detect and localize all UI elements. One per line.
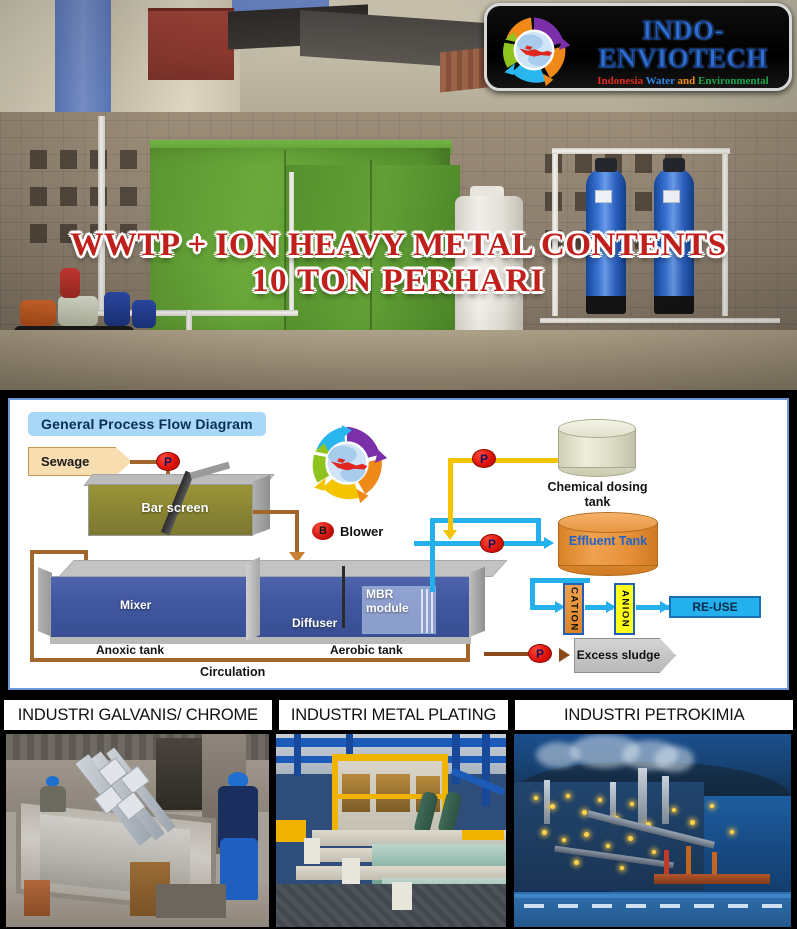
pump-badge-inlet[interactable]: P [156,452,180,471]
industry-label-petrokimia: INDUSTRI PETROKIMIA [515,700,793,730]
circulation-pipe-bottom [30,658,470,662]
mixer-label: Mixer [120,598,151,612]
bioreactor-top [58,560,507,577]
mbr-module-label: MBR module [366,588,436,616]
arrow-to-effluent [544,537,554,549]
diagram-header: General Process Flow Diagram [28,412,266,436]
poster-root: WWTP + ION HEAVY METAL CONTENTS 10 TON P… [0,0,797,929]
arrow-to-sludge [559,648,570,662]
title-line-1: WWTP + ION HEAVY METAL CONTENTS [0,228,797,264]
cation-label: CATION [569,587,579,632]
company-logo-badge[interactable]: INDO-ENVIOTECH Indonesia Water and Envir… [484,3,792,91]
diffuser-stem [342,566,345,628]
water-cycle-icon [497,13,571,87]
anion-label: ANION [620,590,630,628]
permeate-pipe-top [430,518,540,523]
industry-label-galvanis: INDUSTRI GALVANIS/ CHROME [4,700,272,730]
anoxic-tank-label: Anoxic tank [96,643,164,657]
metal-plating-line-photo [276,734,506,927]
cation-exchange-column: CATION [563,583,584,635]
pump-badge-chemical[interactable]: P [472,449,496,468]
process-flow-panel: General Process Flow Diagram Sewage P Ba… [0,390,797,698]
hero-photo: WWTP + ION HEAVY METAL CONTENTS 10 TON P… [0,0,797,390]
galvanizing-plant-photo [6,734,269,927]
sewage-label: Sewage [29,454,89,469]
pump-badge-permeate[interactable]: P [480,534,504,553]
water-cycle-icon-diagram [306,422,388,504]
pump-badge-sludge[interactable]: P [528,644,552,663]
process-flow-diagram: General Process Flow Diagram Sewage P Ba… [8,398,789,690]
chemical-dosing-tank-label: Chemical dosing tank [540,480,655,510]
circulation-label: Circulation [200,665,265,679]
tagline-technology: Technology [577,88,789,91]
logo-title: INDO-ENVIOTECH [577,16,789,73]
tagline-environmental: Environmental [698,75,769,87]
arrow-chemical-dose [443,530,457,540]
chemical-dosing-pipe [448,458,560,463]
aerobic-tank-label: Aerobic tank [330,643,403,657]
circulation-pipe-left [30,550,34,662]
effluent-tank-label: Effluent Tank [558,534,658,548]
excess-sludge-label: Excess sludge [577,649,673,663]
industry-photo-row [0,732,797,929]
tank-divider-wall [246,557,260,641]
excess-sludge-node: Excess sludge [574,638,676,673]
blower-label: Blower [340,524,383,539]
sewage-inlet-node: Sewage [28,447,132,476]
reuse-output-box: RE-USE [669,596,761,618]
reuse-label: RE-USE [692,600,737,614]
anion-exchange-column: ANION [614,583,635,635]
bar-screen-label: Bar screen [110,500,240,515]
title-line-2: 10 TON PERHARI [0,264,797,300]
permeate-pipe-riser [430,518,435,592]
industry-label-row: INDUSTRI GALVANIS/ CHROME INDUSTRI METAL… [0,698,797,732]
petrochemical-plant-photo [514,734,791,927]
blower-badge[interactable]: B [312,522,334,540]
logo-tagline: Indonesia Water and Environmental [577,75,789,89]
tagline-and: and [678,75,699,87]
diffuser-label: Diffuser [292,616,337,630]
page-title: WWTP + ION HEAVY METAL CONTENTS 10 TON P… [0,228,797,299]
tagline-indonesia: Indonesia [597,75,645,87]
industry-label-metal-plating: INDUSTRI METAL PLATING [279,700,509,730]
chemical-dosing-riser [448,458,453,536]
tagline-water: Water [646,75,678,87]
